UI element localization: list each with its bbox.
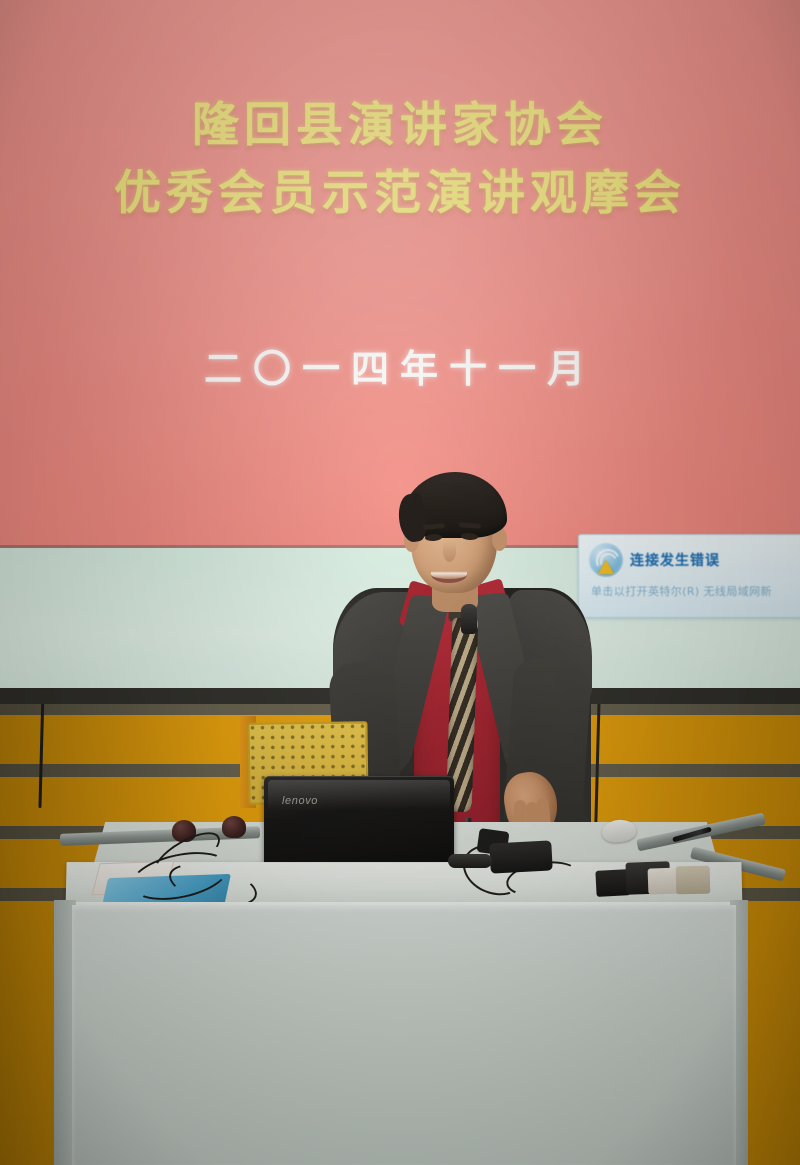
- slide-title-line-2: 优秀会员示范演讲观摩会: [0, 160, 800, 228]
- wireless-globe-warning-icon: [589, 543, 623, 577]
- slide-date: 二〇一四年十一月: [0, 338, 800, 393]
- slide-background: [0, 0, 800, 548]
- microphone-base: [448, 854, 492, 868]
- power-adapter[interactable]: [489, 840, 552, 873]
- error-header-row: 连接发生错误: [589, 543, 720, 577]
- slide-title: 隆回县演讲家协会 优秀会员示范演讲观摩会: [0, 92, 800, 228]
- microphone-head: [461, 604, 477, 634]
- connection-error-dialog[interactable]: 连接发生错误 单击以打开英特尔(R) 无线局域网新: [578, 534, 800, 618]
- desk-knob[interactable]: [222, 816, 246, 838]
- error-dialog-body: 单击以打开英特尔(R) 无线局域网新: [591, 583, 800, 599]
- projection-screen: 隆回县演讲家协会 优秀会员示范演讲观摩会 二〇一四年十一月 连接发生错误 单击以…: [0, 0, 800, 692]
- podium-front-panel: [72, 905, 736, 1165]
- remote-control[interactable]: [676, 866, 710, 895]
- laptop-brand-label: lenovo: [282, 795, 318, 807]
- error-dialog-title: 连接发生错误: [630, 550, 720, 570]
- screen-bottom-frame: [0, 688, 800, 704]
- photograph: 隆回县演讲家协会 优秀会员示范演讲观摩会 二〇一四年十一月 连接发生错误 单击以…: [0, 0, 800, 1165]
- slide-title-line-1: 隆回县演讲家协会: [0, 92, 800, 160]
